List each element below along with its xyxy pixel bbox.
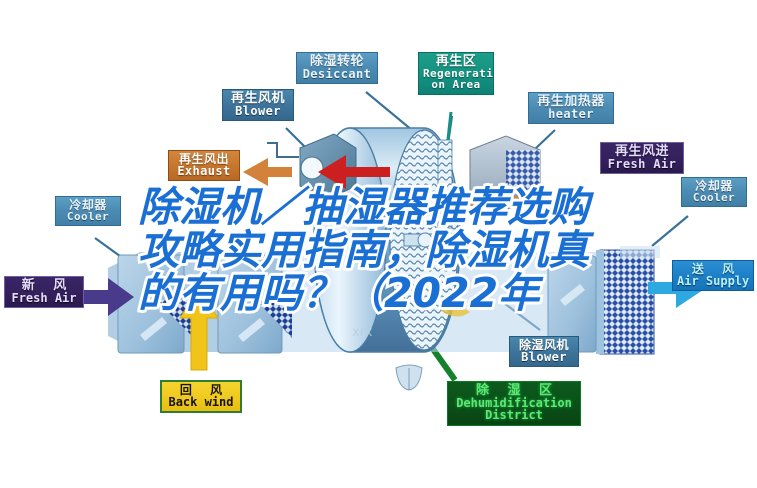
label-regeneration-fresh-air-in: 再生风进 Fresh Air xyxy=(600,142,684,174)
label-exhaust: 再生风出 Exhaust xyxy=(168,150,240,181)
label-back-wind: 回 风 Back wind xyxy=(160,380,242,413)
watermark-text: xrx xyxy=(352,325,373,340)
label-regeneration-heater: 再生加热器 heater xyxy=(528,92,614,124)
label-cooler-left: 冷却器 Cooler xyxy=(55,196,121,226)
label-dehumidification-blower: 除湿风机 Blower xyxy=(509,336,579,367)
label-dehumidification-district: 除 湿 区 Dehumidification District xyxy=(447,381,581,426)
label-air-supply: 送 风 Air Supply xyxy=(672,260,754,291)
label-regeneration-area: 再生区 Regenerati on Area xyxy=(418,52,494,95)
dehumidifier-schematic-artwork: xrx xyxy=(0,0,757,488)
label-fresh-air-in: 新 风 Fresh Air xyxy=(4,276,84,308)
label-desiccant-wheel: 除湿转轮 Desiccant xyxy=(296,52,378,84)
label-cooler-right: 冷却器 Cooler xyxy=(681,177,747,207)
diagram-canvas: xrx 除湿转轮 Desiccant 再生风机 Blower 再生区 Regen… xyxy=(0,0,757,488)
label-regeneration-blower: 再生风机 Blower xyxy=(222,89,294,121)
